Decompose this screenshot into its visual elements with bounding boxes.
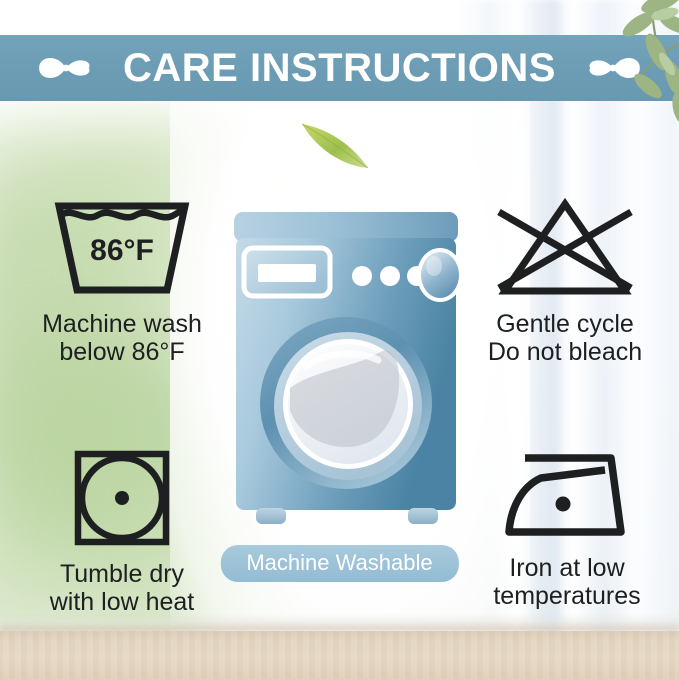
caption-line-1: Iron at low	[493, 554, 640, 582]
care-symbol-do-not-bleach: Gentle cycle Do not bleach	[457, 196, 673, 366]
caption-line-1: Tumble dry	[50, 560, 195, 588]
washing-machine-illustration	[228, 210, 464, 540]
caption-iron: Iron at low temperatures	[493, 554, 640, 610]
page-title: CARE INSTRUCTIONS	[123, 48, 556, 88]
table-edge-shadow	[0, 615, 679, 631]
tumble-dry-square-icon	[70, 446, 174, 550]
knob-highlight	[426, 256, 442, 276]
care-symbol-tumble-dry: Tumble dry with low heat	[12, 446, 232, 616]
caption-line-2: Do not bleach	[488, 338, 642, 366]
care-instructions-infographic: CARE INSTRUCTIONS 86°F Machine wash belo…	[0, 0, 679, 679]
machine-foot-right	[408, 508, 438, 524]
control-button-2[interactable]	[380, 266, 400, 286]
control-button-1[interactable]	[352, 266, 372, 286]
machine-washable-badge: Machine Washable	[220, 545, 458, 582]
fleur-de-lis-icon-left	[35, 48, 97, 88]
caption-tumble-dry: Tumble dry with low heat	[50, 560, 195, 616]
care-symbol-iron: Iron at low temperatures	[459, 446, 675, 610]
caption-line-2: with low heat	[50, 588, 195, 616]
caption-machine-wash: Machine wash below 86°F	[42, 310, 202, 366]
machine-foot-left	[256, 508, 286, 524]
badge-label: Machine Washable	[246, 550, 432, 575]
care-symbol-machine-wash: 86°F Machine wash below 86°F	[12, 196, 232, 366]
control-knob[interactable]	[421, 252, 459, 298]
caption-line-2: below 86°F	[42, 338, 202, 366]
washing-machine-svg	[228, 210, 464, 540]
display-screen	[258, 264, 316, 282]
caption-do-not-bleach: Gentle cycle Do not bleach	[488, 310, 642, 366]
crossed-triangle-icon	[489, 196, 641, 300]
machine-top-lid	[234, 212, 458, 242]
header-banner: CARE INSTRUCTIONS	[0, 35, 679, 101]
wash-temperature-value: 86°F	[90, 234, 154, 267]
wash-tub-icon: 86°F	[47, 196, 197, 300]
iron-icon	[501, 446, 633, 544]
caption-line-1: Gentle cycle	[488, 310, 642, 338]
floating-leaf-icon	[296, 118, 382, 176]
wood-table-surface	[0, 631, 679, 679]
caption-line-2: temperatures	[493, 582, 640, 610]
fleur-de-lis-icon-right	[582, 48, 644, 88]
caption-line-1: Machine wash	[42, 310, 202, 338]
